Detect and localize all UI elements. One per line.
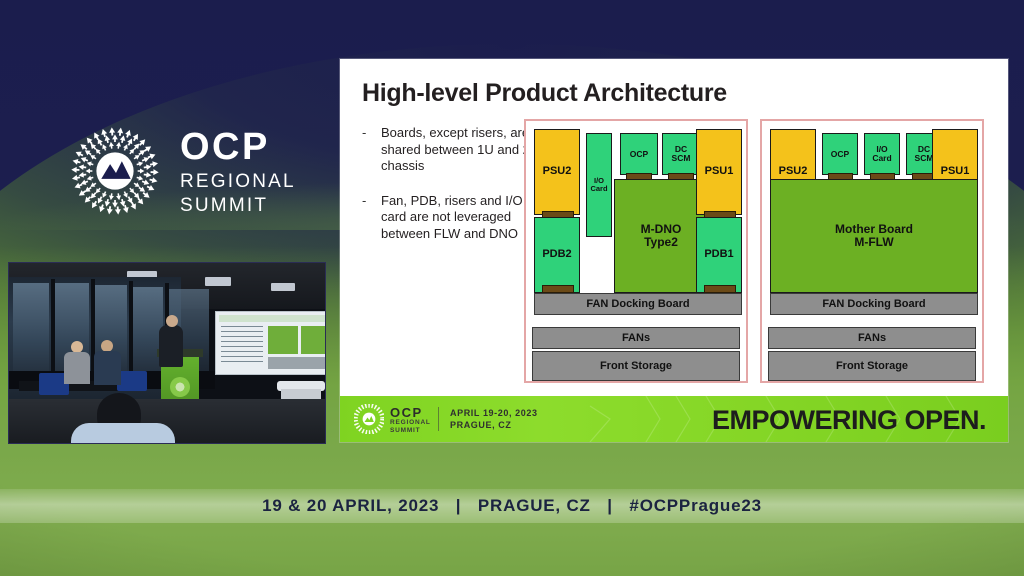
- row-front-storage: Front Storage: [532, 351, 740, 381]
- connector: [704, 285, 736, 293]
- footer-tagline: EMPOWERING OPEN.: [712, 405, 986, 436]
- event-info-bar: 19 & 20 APRIL, 2023 | PRAGUE, CZ | #OCPP…: [0, 489, 1024, 523]
- ocp-regional-summit-logo: OCP REGIONAL SUMMIT: [66, 120, 316, 222]
- presenter-head: [166, 315, 178, 327]
- room-scene: [9, 263, 325, 443]
- block-motherboard-mdno: M-DNO Type2: [614, 179, 708, 293]
- slide-title: High-level Product Architecture: [362, 79, 727, 108]
- bullet-text: Fan, PDB, risers and I/O card are not le…: [381, 193, 540, 243]
- block-pdb2: PDB2: [534, 217, 580, 293]
- footer-ocp-sunburst-icon: [354, 404, 384, 434]
- block-ocp-card: OCP: [620, 133, 658, 175]
- bullet-item: - Fan, PDB, risers and I/O card are not …: [362, 193, 540, 243]
- row-fan-docking-board: FAN Docking Board: [534, 293, 742, 315]
- bullet-dash: -: [362, 125, 371, 175]
- attendee-body: [94, 351, 121, 385]
- ocp-sunburst-icon: [66, 122, 164, 220]
- row-fans: FANs: [768, 327, 976, 349]
- architecture-diagram-flw: PSU2 OCP I/O Card DC SCM PSU1 Mother Boa…: [760, 119, 984, 383]
- footer-logo-summit: SUMMIT: [390, 427, 420, 434]
- bullet-list: - Boards, except risers, are shared betw…: [362, 125, 540, 260]
- block-io-card: I/O Card: [864, 133, 900, 175]
- slide-footer-banner: OCP REGIONAL SUMMIT APRIL 19-20, 2023 PR…: [340, 396, 1008, 442]
- bullet-dash: -: [362, 193, 371, 243]
- footer-divider: [438, 407, 439, 431]
- logo-summit-text: SUMMIT: [180, 196, 268, 215]
- block-motherboard-mflw: Mother Board M-FLW: [770, 179, 978, 293]
- screen-text-block: [221, 326, 263, 366]
- ceiling-light: [205, 277, 231, 286]
- footer-event-date: APRIL 19-20, 2023: [450, 408, 538, 418]
- presenter-body: [159, 325, 183, 367]
- block-pdb1: PDB1: [696, 217, 742, 293]
- footer-logo-ocp: OCP: [390, 406, 423, 419]
- screen-diagram-left: [268, 326, 298, 354]
- block-psu2: PSU2: [534, 129, 580, 215]
- logo-regional-text: REGIONAL: [180, 172, 296, 191]
- window-mullion: [129, 281, 133, 379]
- ceiling-light: [271, 283, 295, 291]
- window-pane: [13, 283, 49, 379]
- block-io-card-riser: I/O Card: [586, 133, 612, 237]
- row-fan-docking-board: FAN Docking Board: [770, 293, 978, 315]
- footer-event-city: PRAGUE, CZ: [450, 420, 512, 430]
- screen-footer-block: [268, 357, 326, 369]
- presentation-slide: High-level Product Architecture - Boards…: [340, 59, 1008, 442]
- row-front-storage: Front Storage: [768, 351, 976, 381]
- attendee-body: [64, 352, 90, 384]
- bullet-text: Boards, except risers, are shared betwee…: [381, 125, 540, 175]
- block-dc-scm-card: DC SCM: [662, 133, 700, 175]
- screen-diagram-right: [301, 326, 326, 354]
- architecture-diagram-dno: PSU2 PDB2 I/O Card OCP DC SCM M-DNO Type…: [524, 119, 748, 383]
- block-psu1: PSU1: [696, 129, 742, 215]
- block-ocp-card: OCP: [822, 133, 858, 175]
- chair: [117, 371, 147, 391]
- slide-stage: OCP REGIONAL SUMMIT: [0, 0, 1024, 576]
- logo-ocp-text: OCP: [180, 128, 270, 166]
- foreground-attendee-body: [71, 423, 175, 444]
- chassis-dno: PSU2 PDB2 I/O Card OCP DC SCM M-DNO Type…: [530, 125, 742, 321]
- projection-screen: [215, 311, 326, 375]
- chassis-flw: PSU2 OCP I/O Card DC SCM PSU1 Mother Boa…: [766, 125, 978, 321]
- window-mullion: [51, 279, 55, 383]
- event-info-text: 19 & 20 APRIL, 2023 | PRAGUE, CZ | #OCPP…: [262, 496, 762, 516]
- ocp-logo-text: OCP REGIONAL SUMMIT: [180, 128, 296, 215]
- connector: [542, 285, 574, 293]
- row-fans: FANs: [532, 327, 740, 349]
- podium-ocp-icon: [170, 377, 190, 397]
- conference-room-video-feed: [8, 262, 326, 444]
- bullet-item: - Boards, except risers, are shared betw…: [362, 125, 540, 175]
- screen-header: [219, 315, 326, 322]
- footer-logo-regional: REGIONAL: [390, 419, 431, 426]
